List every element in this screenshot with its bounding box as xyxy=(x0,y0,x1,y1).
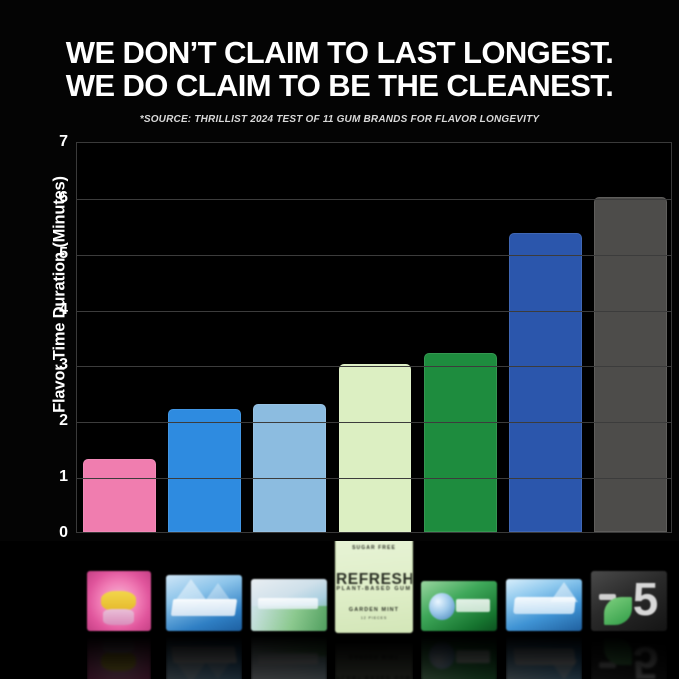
gridline-4 xyxy=(77,311,672,312)
bubbleyum-bottom-icon xyxy=(103,609,134,625)
trident-band xyxy=(251,606,327,631)
pack-reflection-five: 5 xyxy=(591,631,667,679)
pack-reflection-bubbleyum xyxy=(87,631,151,679)
bar-chart: Flavor Time Duration (Minutes) 01234567 xyxy=(0,130,679,545)
product-pack-refresh[interactable]: SUGAR FREEREFRESHPLANT-BASED GUMGARDEN M… xyxy=(335,541,413,633)
extra-wordmark-icon xyxy=(171,647,237,664)
product-pack-trident[interactable] xyxy=(251,579,327,631)
trident-wordmark-icon xyxy=(258,653,317,664)
refresh-flavor-label: GARDEN MINT xyxy=(336,607,412,613)
ice-shard-icon xyxy=(175,661,207,679)
y-tick-5: 5 xyxy=(34,245,68,263)
bar-ice-breakers-ice-cubes[interactable] xyxy=(509,233,582,532)
five-numeral-label: 5 xyxy=(633,640,659,679)
bar-refresh-plant-based-gum[interactable] xyxy=(339,364,412,532)
bar-orbit[interactable] xyxy=(424,353,497,532)
refresh-count-label: 12 PIECES xyxy=(336,646,412,650)
headline-line-1: WE DON’T CLAIM TO LAST LONGEST. xyxy=(0,36,679,69)
pack-face-five: 5 xyxy=(591,571,667,631)
pack-reflection-trident xyxy=(251,631,327,679)
plot-area xyxy=(76,142,672,533)
refresh-count-label: 12 PIECES xyxy=(336,616,412,620)
gridline-1 xyxy=(77,478,672,479)
pack-face-bubbleyum xyxy=(87,571,151,631)
pack-face-refresh: SUGAR FREEREFRESHPLANT-BASED GUMGARDEN M… xyxy=(335,541,413,633)
trident-wordmark-icon xyxy=(258,598,317,609)
orbit-wordmark-icon xyxy=(456,650,489,663)
refresh-descriptor-label: PLANT-BASED GUM xyxy=(336,674,412,679)
y-tick-1: 1 xyxy=(34,468,68,486)
product-pack-orbit[interactable] xyxy=(421,581,497,631)
gridline-2 xyxy=(77,422,672,423)
ice-breakers-wordmark-icon xyxy=(513,649,576,666)
mint-leaf-icon xyxy=(604,637,633,665)
source-note: *SOURCE: THRILLIST 2024 TEST OF 11 GUM B… xyxy=(0,114,679,125)
orbit-sphere-icon xyxy=(429,642,455,669)
five-numeral-label: 5 xyxy=(633,576,659,622)
refresh-descriptor-label: PLANT-BASED GUM xyxy=(336,586,412,592)
orbit-sphere-icon xyxy=(429,593,455,620)
bubbleyum-center-icon xyxy=(101,651,137,671)
bar-bubble-yum[interactable] xyxy=(83,459,156,532)
ice-shard-icon xyxy=(205,661,231,679)
gridline-6 xyxy=(77,199,672,200)
product-pack-bubbleyum[interactable] xyxy=(87,571,151,631)
product-pack-extra[interactable] xyxy=(166,575,242,631)
refresh-flavor-label: GARDEN MINT xyxy=(336,653,412,659)
y-tick-4: 4 xyxy=(34,301,68,319)
pack-face-orbit xyxy=(421,581,497,631)
bubbleyum-bottom-icon xyxy=(103,637,134,653)
bubbleyum-center-icon xyxy=(101,591,137,611)
y-tick-0: 0 xyxy=(34,524,68,542)
gridline-5 xyxy=(77,255,672,256)
orbit-wordmark-icon xyxy=(456,599,489,612)
product-pack-ice[interactable] xyxy=(506,579,582,631)
pack-reflection-ice xyxy=(506,631,582,679)
y-axis-tick-labels: 01234567 xyxy=(34,130,68,545)
pack-reflection-orbit xyxy=(421,631,497,679)
y-tick-7: 7 xyxy=(34,133,68,151)
y-tick-6: 6 xyxy=(34,189,68,207)
ice-breakers-wordmark-icon xyxy=(513,597,576,614)
refresh-sugar-free-label: SUGAR FREE xyxy=(336,545,412,551)
mint-leaf-icon xyxy=(604,597,633,625)
poster-canvas: WE DON’T CLAIM TO LAST LONGEST. WE DO CL… xyxy=(0,0,679,679)
extra-wordmark-icon xyxy=(171,599,237,616)
y-tick-2: 2 xyxy=(34,412,68,430)
pack-face-extra xyxy=(166,575,242,631)
product-shelf: SUGAR FREEREFRESHPLANT-BASED GUMGARDEN M… xyxy=(0,541,679,679)
headline-line-2: WE DO CLAIM TO BE THE CLEANEST. xyxy=(0,69,679,102)
bar-extra[interactable] xyxy=(168,409,241,532)
y-tick-3: 3 xyxy=(34,356,68,374)
pack-face-ice xyxy=(506,579,582,631)
poster-header: WE DON’T CLAIM TO LAST LONGEST. WE DO CL… xyxy=(0,36,679,125)
product-pack-five[interactable]: 55 xyxy=(591,571,667,631)
gridline-3 xyxy=(77,366,672,367)
bar-5-gum[interactable] xyxy=(594,197,667,532)
bar-series xyxy=(77,143,672,532)
pack-reflection-extra xyxy=(166,631,242,679)
pack-reflection-refresh: SUGAR FREEREFRESHPLANT-BASED GUMGARDEN M… xyxy=(335,633,413,679)
pack-face-trident xyxy=(251,579,327,631)
